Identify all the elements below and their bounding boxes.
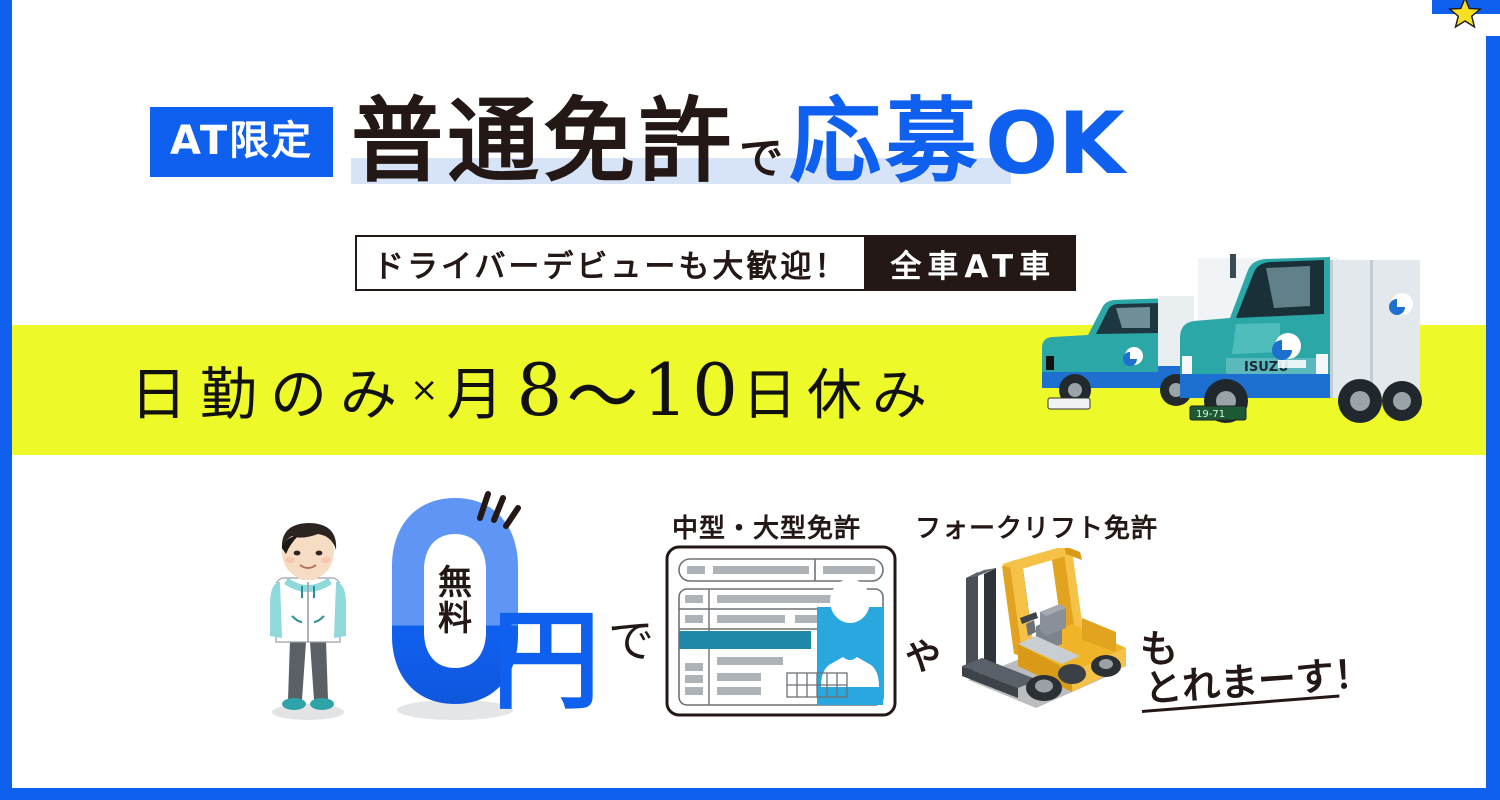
work-conditions-text: 日勤のみ × 月 8 〜 10 日休み xyxy=(130,352,937,428)
person-illustration xyxy=(252,520,364,720)
at-limited-badge: AT限定 xyxy=(150,107,333,177)
headline-particle: で xyxy=(739,137,783,181)
drivers-license-card-icon xyxy=(665,545,897,717)
headline-license-text: 普通免許 xyxy=(351,96,735,188)
forklift-icon xyxy=(940,548,1136,716)
headline-main-text: 普通免許 で 応募 OK xyxy=(351,96,1125,188)
can-obtain-text: も とれまーす！ xyxy=(1140,618,1350,728)
recruitment-banner: AT限定 普通免許 で 応募 OK ドライバーデビューも大歓迎！ 全車AT車 日… xyxy=(0,0,1500,800)
range-tilde: 〜 xyxy=(566,338,642,443)
frame-border-bottom xyxy=(12,788,1500,800)
truck-rear xyxy=(1042,296,1194,409)
medium-large-license-label: 中型・大型免許 xyxy=(672,508,861,545)
month-label: 月 xyxy=(447,349,517,431)
headline-ok-text: OK xyxy=(985,101,1125,187)
days-off-label: 日休み xyxy=(742,350,937,430)
subtitle-all-at-vehicles: 全車AT車 xyxy=(866,235,1076,291)
de-particle: で xyxy=(608,618,654,664)
subtitle-debut-welcome: ドライバーデビューも大歓迎！ xyxy=(355,235,866,291)
free-label: 無料 xyxy=(428,566,482,637)
frame-border-left xyxy=(0,0,12,800)
truck-plate-number: 19-71 xyxy=(1196,409,1225,420)
forklift-license-label: フォークリフト免許 xyxy=(915,508,1158,545)
days-off-max: 10 xyxy=(642,348,742,432)
subtitle-bar: ドライバーデビューも大歓迎！ 全車AT車 xyxy=(355,235,1076,291)
star-icon xyxy=(1448,0,1482,30)
truck-front: ISUZU 19-71 xyxy=(1180,254,1422,423)
headline-apply-text: 応募 xyxy=(789,96,981,188)
daytime-only-label: 日勤のみ xyxy=(130,349,410,431)
days-off-min: 8 xyxy=(517,348,567,432)
truck-photo: ISUZU 19-71 xyxy=(1030,238,1490,460)
ya-connector: や xyxy=(905,628,941,680)
multiply-symbol: × xyxy=(410,370,439,410)
frame-border-right xyxy=(1486,36,1500,800)
headline: AT限定 普通免許 で 応募 OK xyxy=(150,88,1125,196)
yen-character: 円 xyxy=(492,608,600,716)
